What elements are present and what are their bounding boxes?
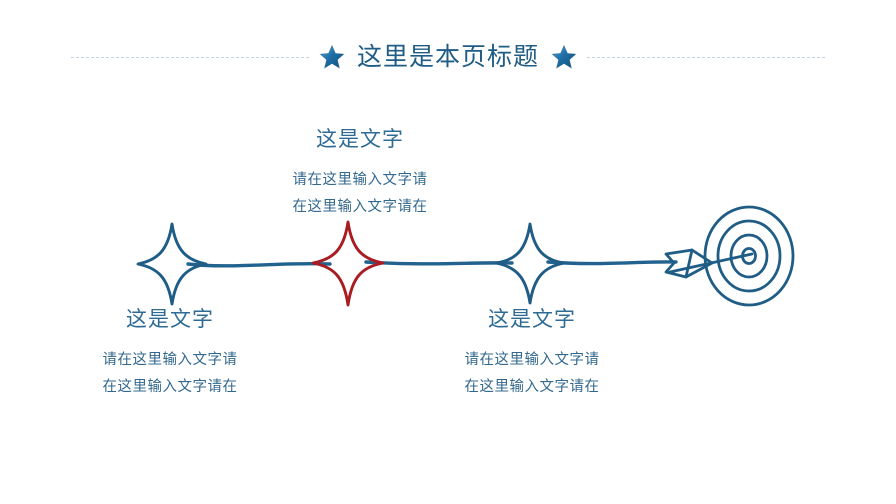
block-body-line: 请在这里输入文字请 [246, 167, 474, 194]
block-body-line: 在这里输入文字请在 [246, 194, 474, 221]
block-body-line: 请在这里输入文字请 [56, 347, 284, 374]
slide-header: 这里是本页标题 [0, 36, 896, 78]
block-heading: 这是文字 [418, 308, 646, 331]
header-rule-right [587, 57, 825, 58]
block-heading: 这是文字 [56, 308, 284, 331]
block-body-line: 在这里输入文字请在 [418, 374, 646, 401]
text-block-left: 这是文字 请在这里输入文字请 在这里输入文字请在 [56, 308, 284, 401]
text-block-top: 这是文字 请在这里输入文字请 在这里输入文字请在 [246, 128, 474, 221]
arrow-icon [666, 250, 752, 277]
block-body: 请在这里输入文字请 在这里输入文字请在 [418, 347, 646, 401]
text-block-right: 这是文字 请在这里输入文字请 在这里输入文字请在 [418, 308, 646, 401]
title-group: 这里是本页标题 [319, 44, 577, 70]
block-heading: 这是文字 [246, 128, 474, 151]
block-body: 请在这里输入文字请 在这里输入文字请在 [246, 167, 474, 221]
block-body: 请在这里输入文字请 在这里输入文字请在 [56, 347, 284, 401]
star-icon [319, 44, 345, 70]
header-rule-left [71, 57, 309, 58]
sparkle-star-3 [496, 224, 564, 303]
slide-canvas: 这里是本页标题 [0, 0, 896, 504]
sparkle-star-1 [138, 224, 206, 304]
bullseye-target-icon [705, 207, 793, 305]
timeline-line [188, 262, 676, 266]
star-icon [551, 44, 577, 70]
block-body-line: 在这里输入文字请在 [56, 374, 284, 401]
page-title: 这里是本页标题 [357, 45, 539, 70]
block-body-line: 请在这里输入文字请 [418, 347, 646, 374]
sparkle-star-2 [313, 222, 383, 305]
